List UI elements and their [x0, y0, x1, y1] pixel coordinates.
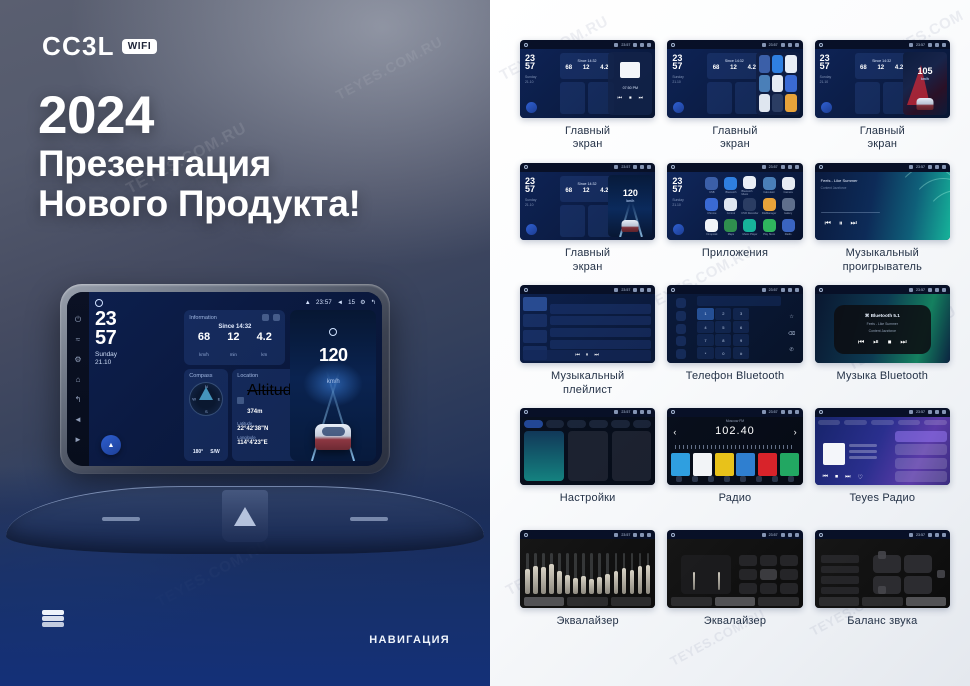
information-since: Since 14:32	[855, 59, 909, 63]
station-preset[interactable]	[758, 453, 777, 476]
thumbnail-caption: Радио	[719, 492, 752, 520]
clock-text: 23:57	[916, 410, 925, 414]
navigation-button[interactable]	[673, 102, 684, 113]
brand-logo: CC3L WIFI	[42, 33, 157, 59]
station-preset[interactable]	[736, 453, 755, 476]
screen-thumbnail[interactable]: ⏮⏸⏭ 23:57	[520, 285, 655, 363]
vent-slot-left	[102, 517, 140, 521]
volume-down-icon[interactable]: ◄	[74, 415, 83, 424]
screen-thumbnail[interactable]: Feels - Like SummerContent Jazzforce ⏮⏸⏭…	[815, 163, 950, 241]
thumbnail-caption: Настройки	[560, 492, 616, 520]
app-tile[interactable]: Gallery	[780, 198, 797, 216]
thumbnail-caption: Музыкальный проигрыватель	[843, 247, 922, 275]
compass-heading: 180°	[193, 449, 203, 455]
eq-slider[interactable]	[631, 553, 634, 594]
screen-thumbnail[interactable]: 23:57	[667, 530, 802, 608]
metric-value: 68	[565, 188, 572, 194]
gallery-item[interactable]: ⌘ Bluetooth 5.1 Feels - Like Summer Cont…	[815, 285, 950, 398]
dialpad-key[interactable]: 8	[715, 334, 731, 346]
thumb-status-bar: 23:57	[520, 40, 655, 49]
navigation-button[interactable]	[101, 435, 121, 455]
dialpad-key[interactable]: 1	[697, 308, 713, 320]
car-3d-model	[315, 424, 351, 450]
thumbnail-caption: Главный экран	[860, 125, 905, 153]
phone-sidebar[interactable]	[670, 297, 692, 360]
back-icon	[942, 410, 946, 414]
wifi-icon	[909, 43, 913, 47]
volume-icon	[781, 288, 785, 292]
gallery-item[interactable]: 23:57 Настройки	[520, 408, 655, 521]
driving-view-widget[interactable]: 120km/h	[608, 175, 652, 238]
gallery-item[interactable]: 2357 Sunday21.10 Since 14:32 68 12 4.2	[667, 40, 802, 153]
screen-thumbnail[interactable]: ⌘ Bluetooth 5.1 Feels - Like Summer Cont…	[815, 285, 950, 363]
volume-up-icon[interactable]: ►	[74, 435, 83, 444]
app-tile[interactable]: Bluetooth	[722, 176, 739, 196]
clock-date: 21.10	[95, 359, 179, 367]
apps-widget[interactable]	[756, 52, 800, 115]
screen-thumbnail[interactable]: Moscow FM ‹› 102.40 23:57	[667, 408, 802, 486]
gallery-item[interactable]: 123456789*0# ☆⌫✆ 23:57 Телефон Bluetooth	[667, 285, 802, 398]
bluetooth-card: ⌘ Bluetooth 5.1 Feels - Like Summer Cont…	[834, 305, 931, 354]
app-icon	[705, 198, 718, 211]
gear-icon[interactable]: ⚙	[360, 299, 366, 306]
clock-text: 23:57	[769, 165, 778, 169]
balance-down-button[interactable]	[878, 586, 886, 594]
volume-icon	[928, 288, 932, 292]
app-tile[interactable]: Music Player	[741, 218, 758, 236]
gear-icon	[788, 43, 792, 47]
phone-actions[interactable]: ☆⌫✆	[784, 308, 800, 359]
gear-icon	[640, 410, 644, 414]
settings-tiles[interactable]	[524, 431, 651, 482]
clock-widget[interactable]: 23 57 Sunday 21.10	[95, 310, 179, 461]
home-icon	[671, 533, 675, 537]
dialpad-key[interactable]: 6	[733, 321, 749, 333]
app-tile[interactable]: Bluetooth Music	[741, 176, 758, 196]
compass-card-header: Compass	[189, 373, 223, 379]
thumb-status-bar: 23:57	[815, 408, 950, 417]
balance-presets[interactable]	[821, 555, 859, 594]
head-unit-device: ⏻ ≈ ⚙ ⌂ ↰ ◄ ► ▲ 23:57 ◄ 15	[60, 284, 390, 474]
app-icon[interactable]	[772, 75, 783, 93]
station-preset[interactable]	[780, 453, 799, 476]
thumbnail-caption: Главный экран	[565, 125, 610, 153]
backspace-icon: ⌫	[788, 331, 795, 337]
eq-faders[interactable]	[681, 555, 731, 594]
wifi-icon: ▲	[305, 300, 311, 306]
wifi-icon	[762, 288, 766, 292]
track-title: Feels - Like Summer	[867, 322, 898, 326]
screen-thumbnail[interactable]: ⏮⏹⏭♡ 23:57	[815, 408, 950, 486]
app-tile[interactable]: Kinopoisk	[703, 218, 720, 236]
app-tile[interactable]: Play Store	[761, 218, 778, 236]
dialpad-key[interactable]: 4	[697, 321, 713, 333]
wifi-icon	[909, 533, 913, 537]
station-meta	[849, 444, 877, 459]
back-icon[interactable]: ↰	[371, 299, 376, 306]
volume-icon	[633, 533, 637, 537]
media-controls[interactable]: ⏮⏸⏭	[825, 220, 857, 228]
back-icon	[795, 43, 799, 47]
eq-slider[interactable]	[550, 553, 553, 594]
track-artist: Content Jazzforce	[869, 329, 896, 333]
hero-headline-line1: Презентация	[38, 143, 271, 185]
wifi-badge: WIFI	[122, 39, 158, 54]
information-since: Since 14:32	[560, 182, 614, 186]
compass-card[interactable]	[560, 205, 585, 237]
metric-unit: km/h	[199, 352, 209, 357]
track-artist: Content Jazzforce	[821, 186, 858, 190]
station-preset[interactable]	[715, 453, 734, 476]
mini-date: Sunday21.10	[820, 75, 832, 85]
app-label: Music Player	[743, 233, 758, 236]
screen-thumbnail[interactable]: 2357 Sunday21.10 USB Bluetooth Bluetooth…	[667, 163, 802, 241]
eq-presets[interactable]	[739, 555, 797, 594]
gear-icon[interactable]: ⚙	[74, 355, 83, 364]
thumbnail-grid: 2357 Sunday21.10 Since 14:32 68 12 4.2 0…	[520, 40, 950, 643]
compass-north: N	[205, 384, 208, 389]
carplay-tile	[568, 431, 608, 482]
eq-tabs[interactable]	[819, 597, 946, 606]
eq-slider[interactable]	[615, 553, 618, 594]
information-card[interactable]: Information Since 14:32 68 km/h	[184, 310, 285, 365]
wifi-icon	[762, 165, 766, 169]
navigation-button[interactable]	[673, 224, 684, 235]
app-label: FileManager	[762, 212, 776, 215]
app-tile[interactable]: Chrome	[703, 198, 720, 216]
balance-right-button[interactable]	[937, 570, 945, 578]
clock-text: 23:57	[769, 43, 778, 47]
app-icon	[743, 176, 756, 189]
thumbnail-caption: Главный экран	[565, 247, 610, 275]
home-icon	[819, 533, 823, 537]
app-tile[interactable]: Maps	[722, 218, 739, 236]
metric-value: 68	[713, 65, 720, 71]
screen-thumbnail[interactable]: 23:57	[520, 530, 655, 608]
app-tile[interactable]: Radio	[780, 218, 797, 236]
eq-slider[interactable]	[542, 553, 545, 594]
clock-text: 23:57	[621, 165, 630, 169]
clock-text: 23:57	[621, 43, 630, 47]
station-list[interactable]	[895, 431, 947, 483]
refresh-icon[interactable]	[262, 314, 269, 321]
phone-number-field[interactable]	[697, 296, 780, 306]
power-icon[interactable]: ⏻	[74, 315, 83, 324]
thumbnail-caption: Приложения	[702, 247, 768, 275]
media-controls[interactable]: ⏮⏹⏭♡	[823, 474, 863, 481]
dialpad-key[interactable]: 2	[715, 308, 731, 320]
screen-thumbnail[interactable]: 2357 Sunday21.10 Since 14:32 68 12 4.2 0…	[520, 40, 655, 118]
eq-slider[interactable]	[598, 553, 601, 594]
app-label: Maps	[728, 233, 734, 236]
app-icon[interactable]	[759, 94, 770, 112]
prev-icon: ⏮	[825, 220, 831, 228]
eq-slider[interactable]	[558, 553, 561, 594]
information-metrics: 68 12 4.2	[855, 65, 909, 71]
car-dashboard: НАВИГАЦИЯ	[0, 466, 490, 686]
metric-speed: 68 km/h	[198, 332, 210, 361]
head-unit-bezel: ⏻ ≈ ⚙ ⌂ ↰ ◄ ► ▲ 23:57 ◄ 15	[67, 292, 382, 466]
dialpad-key[interactable]: 3	[733, 308, 749, 320]
dialpad-key[interactable]: 9	[733, 334, 749, 346]
gallery-item[interactable]: 2357 Sunday21.10 USB Bluetooth Bluetooth…	[667, 163, 802, 276]
app-label: Bluetooth	[725, 191, 736, 194]
thumb-status-bar: 23:57	[667, 40, 802, 49]
track-list[interactable]	[550, 304, 651, 349]
back-icon	[942, 288, 946, 292]
navigation-button[interactable]	[526, 102, 537, 113]
compass-card[interactable]	[855, 82, 880, 114]
wifi-tile	[524, 431, 564, 482]
eq-slider[interactable]	[647, 553, 650, 594]
clock-text: 23:57	[916, 43, 925, 47]
metric-value: 4.2	[748, 65, 756, 71]
thumb-status-bar: 23:57	[815, 163, 950, 172]
gallery-item[interactable]: ⏮⏹⏭♡ 23:57 Teyes Радио	[815, 408, 950, 521]
wifi-icon	[614, 410, 618, 414]
volume-icon	[633, 43, 637, 47]
gallery-item[interactable]: Feels - Like SummerContent Jazzforce ⏮⏸⏭…	[815, 163, 950, 276]
app-icon[interactable]	[772, 94, 783, 112]
volume-icon	[928, 43, 932, 47]
navigation-label: НАВИГАЦИЯ	[369, 634, 450, 646]
eq-slider[interactable]	[582, 553, 585, 594]
track-time: 07:50 PM	[608, 86, 652, 90]
volume-icon	[633, 410, 637, 414]
thumb-status-bar: 23:57	[520, 408, 655, 417]
gallery-item[interactable]: ⏮⏸⏭ 23:57 Музыкальный плейлист	[520, 285, 655, 398]
visualizer	[888, 172, 950, 241]
location-title: Location	[237, 373, 258, 379]
navigation-button[interactable]	[526, 224, 537, 235]
clock-text: 23:57	[916, 533, 925, 537]
gear-icon	[788, 288, 792, 292]
wifi-icon	[909, 410, 913, 414]
thumb-status-bar: 23:57	[667, 408, 802, 417]
clock-text: 23:57	[621, 288, 630, 292]
gallery-item[interactable]: 23:57 Баланс звука	[815, 530, 950, 643]
album-art	[823, 443, 845, 465]
bluetooth-badge: ⌘ Bluetooth 5.1	[865, 313, 900, 319]
eq-slider[interactable]	[526, 553, 529, 594]
gear-icon	[640, 43, 644, 47]
gallery-item[interactable]: 2357 Sunday21.10 Since 14:32 68 12 4.2 1…	[815, 40, 950, 153]
side-button-rail[interactable]: ⏻ ≈ ⚙ ⌂ ↰ ◄ ►	[67, 292, 89, 466]
station-preset[interactable]	[671, 453, 690, 476]
metric-unit: km	[261, 352, 267, 357]
screen-thumbnail[interactable]: 2357 Sunday21.10 Since 14:32 68 12 4.2	[667, 40, 802, 118]
eq-slider[interactable]	[534, 553, 537, 594]
thumbnail-caption: Эквалайзер	[556, 615, 618, 643]
compass-card[interactable]	[560, 82, 585, 114]
wifi-icon	[909, 165, 913, 169]
eq-slider[interactable]	[623, 553, 626, 594]
compass-dial: N S E W	[189, 382, 223, 416]
dialpad-key[interactable]: #	[733, 347, 749, 359]
gallery-item[interactable]: 23:57 Эквалайзер	[667, 530, 802, 643]
compass-card[interactable]: Compass N S E W 180°	[184, 369, 228, 461]
eq-slider[interactable]	[606, 553, 609, 594]
metric-value: 4.2	[600, 65, 608, 71]
driving-view-widget[interactable]: 120 km/h	[290, 310, 376, 461]
volume-icon	[781, 410, 785, 414]
hazard-triangle-icon	[234, 507, 256, 526]
gear-icon	[935, 43, 939, 47]
clock-text: 23:57	[916, 165, 925, 169]
radio-toolbar[interactable]	[671, 475, 798, 483]
mini-date: Sunday21.10	[672, 75, 684, 85]
metric-value: 12	[583, 65, 590, 71]
app-icon	[705, 177, 718, 190]
back-icon	[795, 410, 799, 414]
driving-view-widget[interactable]: 105km/h	[903, 52, 947, 115]
mini-clock: 2357	[820, 54, 830, 71]
gallery-item[interactable]: 2357 Sunday21.10 Since 14:32 68 12 4.2 0…	[520, 40, 655, 153]
compass-title: Compass	[189, 373, 212, 379]
compass-east: E	[218, 397, 221, 402]
media-widget[interactable]: 07:50 PM ⏮⏹⏭	[608, 52, 652, 115]
radio-frequency: 102.40	[667, 425, 802, 437]
gallery-item[interactable]: 2357 Sunday21.10 Since 14:32 68 12 4.2 1…	[520, 163, 655, 276]
screen-thumbnail[interactable]: 2357 Sunday21.10 Since 14:32 68 12 4.2 1…	[520, 163, 655, 241]
media-controls[interactable]: ⏮⏯⏹⏭	[858, 339, 907, 347]
eq-sliders[interactable]	[526, 553, 649, 594]
app-label: Gallery	[784, 212, 792, 215]
screen-thumbnail[interactable]: 2357 Sunday21.10 Since 14:32 68 12 4.2 1…	[815, 40, 950, 118]
metric-value: 4.2	[895, 65, 903, 71]
volume-icon	[928, 533, 932, 537]
app-icon[interactable]	[772, 55, 783, 73]
thumb-status-bar: 23:57	[815, 285, 950, 294]
screen-thumbnail[interactable]: 23:57	[815, 530, 950, 608]
app-icon[interactable]	[785, 75, 796, 93]
thumb-status-bar: 23:57	[520, 285, 655, 294]
screen-thumbnail[interactable]: 123456789*0# ☆⌫✆ 23:57	[667, 285, 802, 363]
frequency-scale[interactable]	[675, 445, 794, 449]
clock-minutes: 57	[95, 329, 179, 348]
clock-text: 23:57	[621, 533, 630, 537]
app-label: DVR Recorder	[742, 212, 759, 215]
app-tile[interactable]: DVR Recorder	[741, 198, 758, 216]
metric-value: 68	[565, 65, 572, 71]
screen-thumbnail[interactable]: 23:57	[520, 408, 655, 486]
metric-value: 4.2	[257, 332, 272, 343]
information-card-header: Information	[189, 314, 280, 321]
app-tile[interactable]: Camera	[780, 176, 797, 196]
dialpad[interactable]: 123456789*0#	[697, 308, 749, 359]
clock-day: Sunday	[95, 351, 179, 359]
app-tile[interactable]: Calculator	[761, 176, 778, 196]
metric-distance: 4.2 km	[257, 332, 272, 361]
app-label: Bluetooth Music	[741, 190, 758, 196]
media-controls[interactable]: ⏮⏹⏭	[608, 95, 652, 101]
heart-icon: ♡	[857, 474, 862, 481]
settings-tabs[interactable]	[524, 420, 651, 428]
app-icon[interactable]	[759, 75, 770, 93]
app-icon[interactable]	[785, 94, 796, 112]
next-icon: ⏭	[850, 220, 856, 228]
wifi-icon	[762, 410, 766, 414]
balance-up-button[interactable]	[878, 551, 886, 559]
teyes-tabs[interactable]	[818, 419, 947, 427]
compass-west: W	[192, 397, 196, 402]
app-tile[interactable]: USB	[703, 176, 720, 196]
speed-limit-icon	[329, 328, 337, 336]
eq-slider[interactable]	[639, 553, 642, 594]
home-icon	[819, 288, 823, 292]
dialpad-key[interactable]: 0	[715, 347, 731, 359]
status-volume: 15	[348, 300, 355, 306]
app-tile[interactable]: Control	[722, 198, 739, 216]
app-label: Play Store	[763, 233, 775, 236]
gear-icon	[935, 533, 939, 537]
app-icon[interactable]	[759, 55, 770, 73]
app-tile[interactable]: FileManager	[761, 198, 778, 216]
expand-icon[interactable]	[273, 314, 280, 321]
dialpad-key[interactable]: 5	[715, 321, 731, 333]
speed-unit: km/h	[608, 199, 652, 203]
home-icon[interactable]: ⌂	[74, 375, 83, 384]
eq-slider[interactable]	[566, 553, 569, 594]
watermark: TEYES.COM.RU	[333, 33, 445, 103]
star-icon: ☆	[789, 314, 793, 320]
station-preset[interactable]	[693, 453, 712, 476]
navigation-button[interactable]	[821, 102, 832, 113]
thumbnail-caption: Баланс звука	[847, 615, 917, 643]
home-screen-body: 23 57 Sunday 21.10 Information	[95, 310, 376, 461]
gear-icon	[640, 288, 644, 292]
dialpad-key[interactable]: 7	[697, 334, 713, 346]
hero-headline-line2: Нового Продукта!	[38, 183, 361, 225]
head-unit-screen[interactable]: ▲ 23:57 ◄ 15 ⚙ ↰ 23 57 Sunday	[89, 292, 382, 466]
app-label: Radio	[785, 233, 792, 236]
wifi-icon	[614, 533, 618, 537]
home-icon[interactable]	[95, 299, 103, 307]
compass-card[interactable]	[707, 82, 732, 114]
thumb-status-bar: 23:57	[520, 163, 655, 172]
thumb-status-bar: 23:57	[815, 40, 950, 49]
eq-slider[interactable]	[590, 553, 593, 594]
information-metrics: 68 km/h 12 min 4.2 km	[189, 332, 280, 361]
progress-bar[interactable]	[821, 212, 880, 214]
volume-icon	[781, 533, 785, 537]
compass-values: 180° S/W	[189, 447, 223, 457]
hazard-light-button[interactable]	[222, 490, 268, 542]
wifi-icon	[614, 288, 618, 292]
information-since: Since 14:32	[560, 59, 614, 63]
eq-tabs[interactable]	[524, 597, 651, 606]
mini-player[interactable]: ⏮⏸⏭	[523, 350, 651, 361]
home-icon	[524, 288, 528, 292]
eq-slider[interactable]	[574, 553, 577, 594]
thumbnail-caption: Эквалайзер	[704, 615, 766, 643]
dialpad-key[interactable]: *	[697, 347, 713, 359]
back-icon	[647, 165, 651, 169]
wifi-icon[interactable]: ≈	[74, 335, 83, 344]
eq-tabs[interactable]	[671, 597, 798, 606]
speed-unit: km/h	[290, 379, 376, 385]
metric-value: 12	[227, 332, 239, 343]
preset-stations[interactable]	[671, 453, 798, 476]
back-icon[interactable]: ↰	[74, 395, 83, 404]
app-drawer[interactable]: USB Bluetooth Bluetooth Music Calculator…	[701, 174, 798, 239]
gear-icon	[935, 410, 939, 414]
home-icon	[819, 410, 823, 414]
gallery-item[interactable]: Moscow FM ‹› 102.40 23:57 Радио	[667, 408, 802, 521]
gallery-item[interactable]: 23:57 Эквалайзер	[520, 530, 655, 643]
gear-icon	[935, 288, 939, 292]
app-icon[interactable]	[785, 55, 796, 73]
